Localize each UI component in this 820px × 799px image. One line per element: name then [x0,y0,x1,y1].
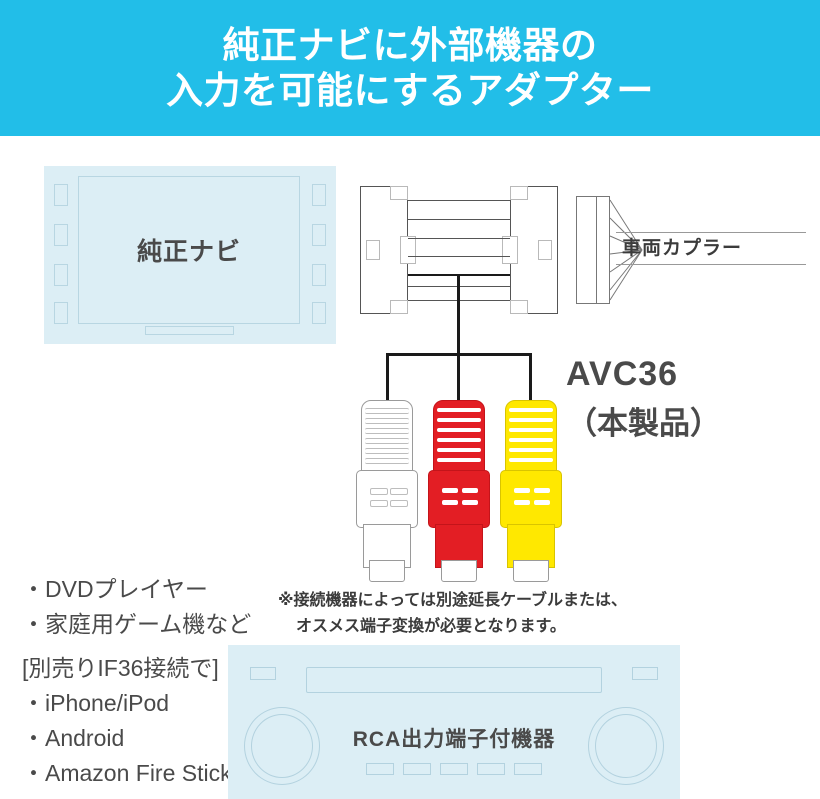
red-plug-rib [437,408,481,412]
white-plug-rib [365,448,409,454]
yellow-plug-rib [509,438,553,442]
device-button [477,763,505,775]
yellow-plug-grip [500,470,562,528]
device-display-slot [306,667,602,693]
device-button [366,763,394,775]
yellow-plug-rib [509,418,553,422]
red-plug-slot [462,488,478,493]
device-corner-button-right [632,667,658,680]
harness-left-tab-top [390,186,408,200]
device-button [514,763,542,775]
harness-wire-3 [408,238,510,239]
harness-right-tab-bottom [510,300,528,314]
yellow-plug-metal-tip [513,560,549,582]
nav-side-button-right-1 [312,184,326,206]
white-plug-metal-tip [369,560,405,582]
note-line-2: オスメス端子変換が必要となります。 [278,614,698,640]
cable-branch-right [529,353,532,403]
yellow-plug-slot [534,500,550,505]
yellow-plug-slot [514,488,530,493]
nav-side-button-left-1 [54,184,68,206]
yellow-rca-plug [500,400,562,582]
header-banner: 純正ナビに外部機器の 入力を可能にするアダプター [0,0,820,136]
note-line-1: ※接続機器によっては別途延長ケーブルまたは、 [278,588,698,614]
header-title-line-2: 入力を可能にするアダプター [166,68,654,113]
list-item: ・DVDプレイヤー [22,572,272,607]
cable-branch-center [457,353,460,403]
white-plug-slot [370,500,388,507]
nav-side-button-right-3 [312,264,326,286]
red-plug-rib [437,438,481,442]
harness-right-latch-outer [538,240,552,260]
nav-side-button-left-2 [54,224,68,246]
yellow-plug-rib [509,448,553,452]
vehicle-coupler-label: 車両カプラー [622,233,742,260]
harness-wire-4 [408,256,510,257]
harness-left-latch-inner [400,236,416,264]
white-plug-rib [365,458,409,464]
device-corner-button-left [250,667,276,680]
compatibility-note: ※接続機器によっては別途延長ケーブルまたは、 オスメス端子変換が必要となります。 [278,588,698,641]
harness-left-latch-outer [366,240,380,260]
yellow-plug-rib [509,458,553,462]
device-label: RCA出力端子付機器 [228,723,680,753]
yellow-plug-slot [514,500,530,505]
coupler-label-rule-bottom [616,264,806,265]
harness-wire-1 [408,200,510,201]
harness-wire-2 [408,219,510,220]
red-plug-rib [437,428,481,432]
white-plug-slot [390,500,408,507]
product-infographic: 純正ナビに外部機器の 入力を可能にするアダプター 純正ナビ [0,0,820,799]
harness-right-tab-top [510,186,528,200]
white-plug-rib [365,438,409,444]
red-plug-slot [442,500,458,505]
white-plug-rib [365,428,409,434]
device-button [440,763,468,775]
white-plug-slot [370,488,388,495]
nav-side-button-right-4 [312,302,326,324]
white-plug-rib [365,408,409,414]
red-plug-slot [442,488,458,493]
yellow-plug-rib [509,428,553,432]
product-name: AVC36 [566,355,678,394]
nav-side-button-left-4 [54,302,68,324]
cable-trunk-vertical [457,274,460,353]
white-plug-slot [390,488,408,495]
nav-side-button-right-2 [312,224,326,246]
white-plug-grip [356,470,418,528]
yellow-plug-rib [509,408,553,412]
device-button [403,763,431,775]
red-plug-metal-tip [441,560,477,582]
header-title-line-1: 純正ナビに外部機器の [223,23,598,68]
nav-side-button-left-3 [54,264,68,286]
nav-screen: 純正ナビ [78,176,300,324]
white-rca-plug [356,400,418,582]
red-rca-plug [428,400,490,582]
cable-branch-left [386,353,389,403]
red-plug-rib [437,448,481,452]
list-item: ・家庭用ゲーム機など [22,607,272,642]
rca-source-device: RCA出力端子付機器 [228,645,680,799]
white-plug-rib [365,418,409,424]
harness-left-tab-bottom [390,300,408,314]
factory-navigation-unit: 純正ナビ [44,166,336,344]
product-subtitle: （本製品） [566,398,721,443]
red-plug-rib [437,418,481,422]
nav-bottom-slot [145,326,234,335]
red-plug-grip [428,470,490,528]
nav-unit-label: 純正ナビ [79,177,299,323]
harness-adapter [360,186,610,314]
harness-right-latch-inner [502,236,518,264]
red-plug-slot [462,500,478,505]
red-plug-rib [437,458,481,462]
yellow-plug-slot [534,488,550,493]
